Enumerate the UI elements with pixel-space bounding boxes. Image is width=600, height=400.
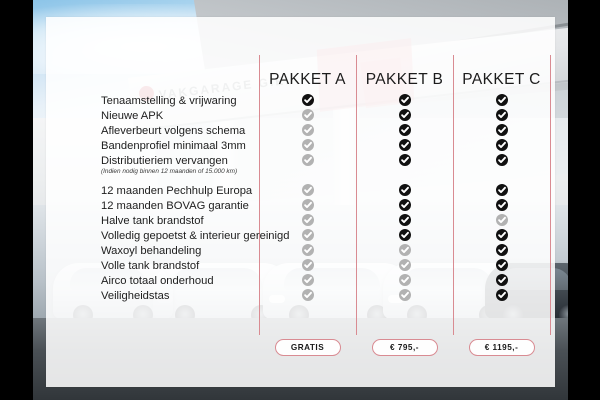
check-icon-b-excluded <box>399 289 411 301</box>
check-icon-b-included <box>399 199 411 211</box>
check-icon-a-excluded <box>302 274 314 286</box>
check-icon-c-included <box>496 289 508 301</box>
feature-label: Volle tank brandstof <box>101 260 199 272</box>
feature-label: Halve tank brandstof <box>101 215 204 227</box>
check-icon-a-excluded <box>302 214 314 226</box>
check-icon-c-included <box>496 259 508 271</box>
check-icon-b-included <box>399 139 411 151</box>
check-icon-c-included <box>496 199 508 211</box>
column-divider-1 <box>356 55 357 335</box>
feature-label: Tenaamstelling & vrijwaring <box>101 95 237 107</box>
feature-label: 12 maanden Pechhulp Europa <box>101 185 252 197</box>
check-icon-b-included <box>399 154 411 166</box>
feature-label: Nieuwe APK <box>101 110 163 122</box>
check-icon-c-included <box>496 94 508 106</box>
feature-label: Distributieriem vervangen <box>101 155 228 167</box>
price-button-c[interactable]: € 1195,- <box>469 339 535 356</box>
check-icon-a-excluded <box>302 259 314 271</box>
price-button-b[interactable]: € 795,- <box>372 339 438 356</box>
check-icon-c-included <box>496 244 508 256</box>
feature-label: 12 maanden BOVAG garantie <box>101 200 249 212</box>
check-icon-b-included <box>399 184 411 196</box>
feature-note: (Indien nodig binnen 12 maanden of 15.00… <box>101 168 237 175</box>
column-divider-0 <box>259 55 260 335</box>
feature-label: Veiligheidstas <box>101 290 169 302</box>
check-icon-a-excluded <box>302 109 314 121</box>
check-icon-c-included <box>496 274 508 286</box>
feature-label: Airco totaal onderhoud <box>101 275 214 287</box>
check-icon-c-included <box>496 154 508 166</box>
check-icon-a-excluded <box>302 154 314 166</box>
check-icon-c-included <box>496 109 508 121</box>
check-icon-b-included <box>399 229 411 241</box>
screenshot-root: VAKGARAGE GIEL <box>0 0 600 400</box>
check-icon-b-excluded <box>399 274 411 286</box>
check-icon-a-excluded <box>302 184 314 196</box>
price-button-a[interactable]: GRATIS <box>275 339 341 356</box>
feature-label: Volledig gepoetst & interieur gereinigd <box>101 230 289 242</box>
column-header-a: PAKKET A <box>259 71 356 89</box>
column-divider-3 <box>550 55 551 335</box>
check-icon-c-included <box>496 229 508 241</box>
check-icon-a-excluded <box>302 289 314 301</box>
check-icon-a-excluded <box>302 139 314 151</box>
feature-label: Waxoyl behandeling <box>101 245 201 257</box>
check-icon-b-included <box>399 214 411 226</box>
pricing-table-card: PAKKET APAKKET BPAKKET CTenaamstelling &… <box>46 17 555 387</box>
check-icon-c-included <box>496 184 508 196</box>
check-icon-b-excluded <box>399 259 411 271</box>
check-icon-a-excluded <box>302 229 314 241</box>
check-icon-a-included <box>302 94 314 106</box>
check-icon-a-excluded <box>302 244 314 256</box>
check-icon-a-excluded <box>302 199 314 211</box>
column-header-b: PAKKET B <box>356 71 453 89</box>
check-icon-b-included <box>399 124 411 136</box>
check-icon-c-included <box>496 124 508 136</box>
feature-label: Bandenprofiel minimaal 3mm <box>101 140 246 152</box>
check-icon-c-excluded <box>496 214 508 226</box>
check-icon-b-included <box>399 94 411 106</box>
feature-label: Afleverbeurt volgens schema <box>101 125 245 137</box>
check-icon-c-included <box>496 139 508 151</box>
column-header-c: PAKKET C <box>453 71 550 89</box>
check-icon-b-excluded <box>399 244 411 256</box>
check-icon-a-excluded <box>302 124 314 136</box>
check-icon-b-included <box>399 109 411 121</box>
column-divider-2 <box>453 55 454 335</box>
